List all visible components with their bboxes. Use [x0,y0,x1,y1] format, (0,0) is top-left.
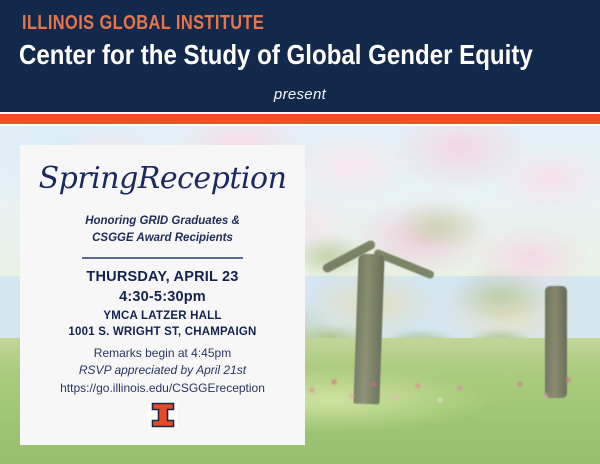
honoring-subtitle: Honoring GRID Graduates & CSGGE Award Re… [20,213,305,247]
honoring-line-2: CSGGE Award Recipients [20,230,305,247]
event-date: THURSDAY, APRIL 23 [20,267,305,287]
block-i-logo [148,401,178,429]
event-time: 4:30-5:30pm [20,287,305,308]
header-band: ILLINOIS GLOBAL INSTITUTE Center for the… [0,0,600,112]
rsvp-url-link[interactable]: https://go.illinois.edu/CSGGEreception [60,381,265,395]
event-details: THURSDAY, APRIL 23 4:30-5:30pm YMCA LATZ… [20,267,305,341]
remarks-note: Remarks begin at 4:45pm [20,345,305,362]
event-title: SpringReception [20,161,305,196]
event-venue: YMCA LATZER HALL [20,308,305,324]
card-divider [82,257,243,259]
event-notes: Remarks begin at 4:45pm RSVP appreciated… [20,345,305,397]
present-label: present [0,86,600,103]
event-address: 1001 S. WRIGHT ST, CHAMPAIGN [20,324,305,341]
honoring-line-1: Honoring GRID Graduates & [20,213,305,230]
rsvp-note: RSVP appreciated by April 21st [20,362,305,379]
organization-name: ILLINOIS GLOBAL INSTITUTE [22,12,264,35]
event-flyer: ILLINOIS GLOBAL INSTITUTE Center for the… [0,0,600,464]
orange-divider-rule [0,114,600,124]
center-name: Center for the Study of Global Gender Eq… [19,39,533,71]
event-details-card: SpringReception Honoring GRID Graduates … [20,145,305,445]
